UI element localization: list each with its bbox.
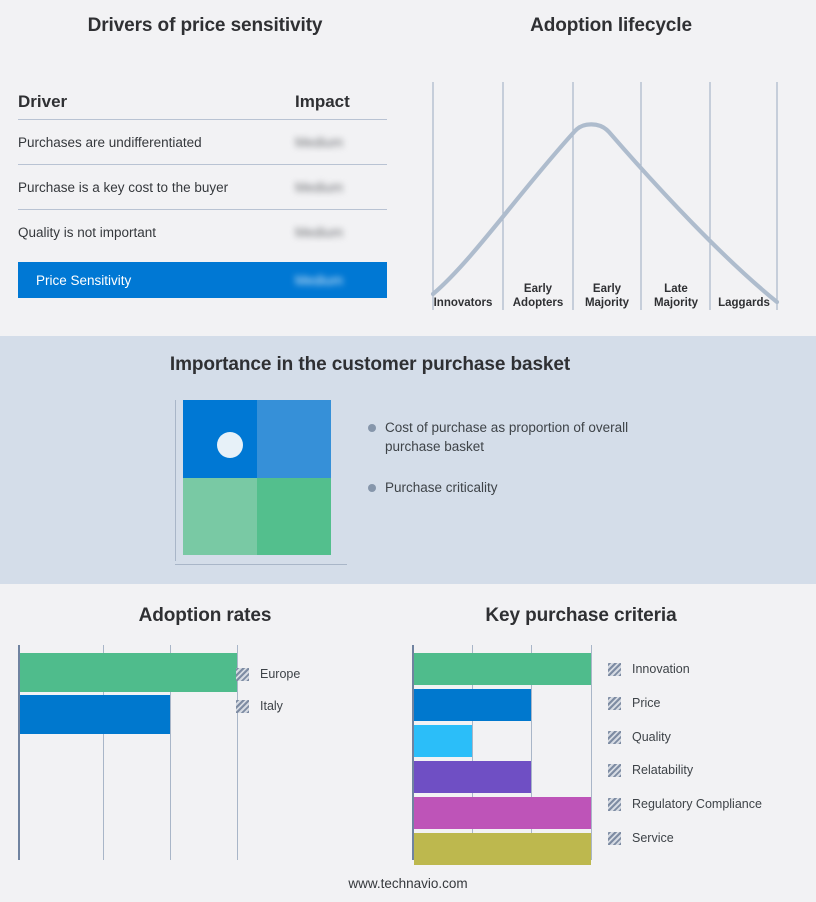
lifecycle-stage-labels: Innovators Early Adopters Early Majority… [425,272,785,310]
drivers-panel-title: Drivers of price sensitivity [0,15,410,37]
legend-label: Quality [632,730,671,744]
legend-item: Purchase criticality [368,478,668,497]
drivers-table-header: Driver Impact [18,92,387,120]
drivers-table: Driver Impact Purchases are undifferenti… [18,92,387,298]
stage-label-innovators: Innovators [425,296,501,310]
adoption-rates-chart: Europe Italy [18,645,408,860]
basket-legend: Cost of purchase as proportion of overal… [368,418,668,519]
quadrant-cell-bottom-left [183,478,257,556]
adoption-panel-title: Adoption rates [0,605,410,627]
hatch-swatch-icon [608,731,621,744]
quadrant-cell-bottom-right [257,478,331,556]
stage-label-laggards: Laggards [712,296,776,310]
bar-europe [20,653,237,692]
legend-item: Italy [236,699,283,713]
summary-impact-value: Medium [277,273,387,288]
legend-label: Relatability [632,763,693,777]
impact-value: Medium [295,225,387,240]
legend-label: Italy [260,699,283,713]
bar-price [414,689,531,721]
hatch-swatch-icon [608,764,621,777]
legend-label: Regulatory Compliance [632,797,762,811]
legend-item: Price [608,696,660,710]
quadrant-cell-top-right [257,400,331,478]
bar-quality [414,725,472,757]
bullet-icon [368,484,376,492]
key-purchase-criteria-chart: Innovation Price Quality Relatability Re… [412,645,807,860]
bar-service [414,833,591,865]
legend-label: Europe [260,667,300,681]
bar-italy [20,695,170,734]
legend-item: Quality [608,730,671,744]
lifecycle-panel-title: Adoption lifecycle [406,15,816,37]
bar-regulatory-compliance [414,797,591,829]
basket-panel-title: Importance in the customer purchase bask… [0,354,740,376]
legend-item: Relatability [608,763,693,777]
quadrant-y-axis [175,400,176,561]
stage-label-early-adopters: Early Adopters [505,282,571,310]
price-sensitivity-summary-row: Price Sensitivity Medium [18,262,387,298]
legend-label: Innovation [632,662,690,676]
impact-value: Medium [295,180,387,195]
hatch-swatch-icon [608,663,621,676]
legend-label: Cost of purchase as proportion of overal… [385,418,645,456]
bar-innovation [414,653,591,685]
hatch-swatch-icon [608,798,621,811]
table-row: Purchases are undifferentiated Medium [18,120,387,165]
driver-label: Purchases are undifferentiated [18,135,295,150]
column-header-driver: Driver [18,92,295,112]
legend-item: Cost of purchase as proportion of overal… [368,418,668,456]
footer-url: www.technavio.com [0,876,816,891]
driver-label: Quality is not important [18,225,295,240]
hatch-swatch-icon [236,668,249,681]
summary-label: Price Sensitivity [36,273,295,288]
impact-value: Medium [295,135,387,150]
gridline [591,645,592,860]
adoption-legend: Europe Italy [236,645,406,745]
bullet-icon [368,424,376,432]
legend-item: Regulatory Compliance [608,797,762,811]
table-row: Purchase is a key cost to the buyer Medi… [18,165,387,210]
legend-item: Innovation [608,662,690,676]
legend-label: Service [632,831,674,845]
hatch-swatch-icon [236,700,249,713]
hatch-swatch-icon [608,832,621,845]
legend-item: Europe [236,667,300,681]
stage-label-late-majority: Late Majority [643,282,709,310]
criteria-panel-title: Key purchase criteria [406,605,756,627]
criteria-legend: Innovation Price Quality Relatability Re… [608,645,808,860]
bar-relatability [414,761,531,793]
quadrant-x-axis [175,564,347,565]
stage-label-early-majority: Early Majority [575,282,639,310]
quadrant-position-marker [217,432,243,458]
legend-label: Price [632,696,660,710]
purchase-basket-quadrant [175,400,340,565]
legend-label: Purchase criticality [385,478,498,497]
column-header-impact: Impact [295,92,387,112]
infographic-page: Drivers of price sensitivity Driver Impa… [0,0,816,902]
driver-label: Purchase is a key cost to the buyer [18,180,295,195]
legend-item: Service [608,831,674,845]
table-row: Quality is not important Medium [18,210,387,254]
quadrant-grid [183,400,331,555]
hatch-swatch-icon [608,697,621,710]
